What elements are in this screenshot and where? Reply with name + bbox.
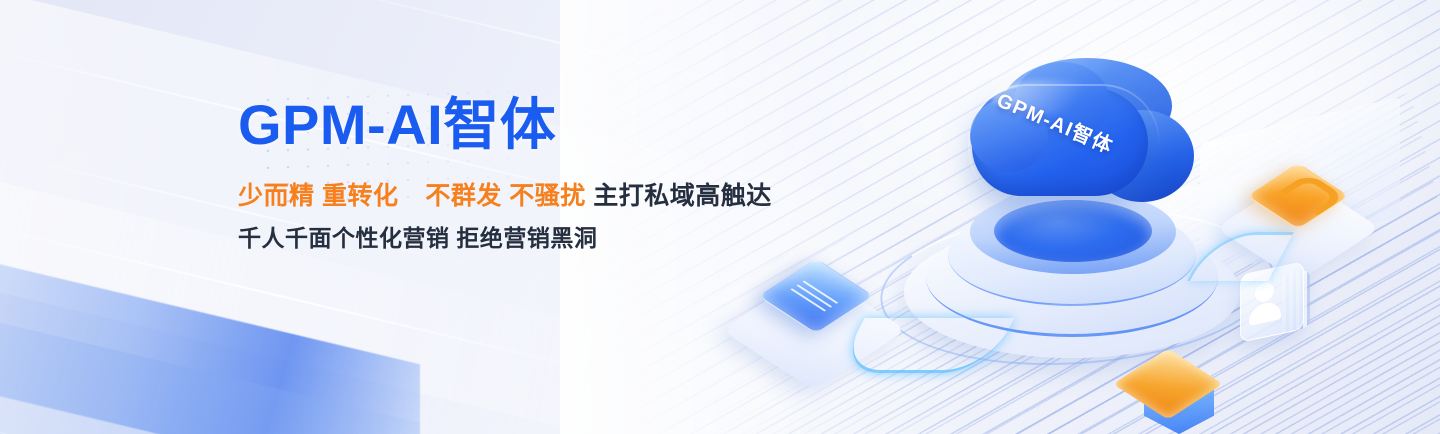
- subtitle-highlight-a: 少而精 重转化: [238, 182, 398, 210]
- hero-illustration: GPM-AI智体: [730, 0, 1440, 434]
- hero-banner: GPM-AI智体 少而精 重转化 不群发 不骚扰 主打私域高触达 千人千面个性化…: [0, 0, 1440, 434]
- cloud-icon: GPM-AI智体: [962, 62, 1202, 227]
- avatar-head-icon: [1255, 281, 1274, 304]
- cloud-rim-light: [968, 84, 1160, 206]
- orange-blue-cube: [1130, 352, 1226, 434]
- avatar-body-icon: [1249, 300, 1281, 326]
- subtitle-highlight-b: 不群发 不骚扰: [425, 182, 585, 210]
- server-indicator-lines: [786, 280, 838, 314]
